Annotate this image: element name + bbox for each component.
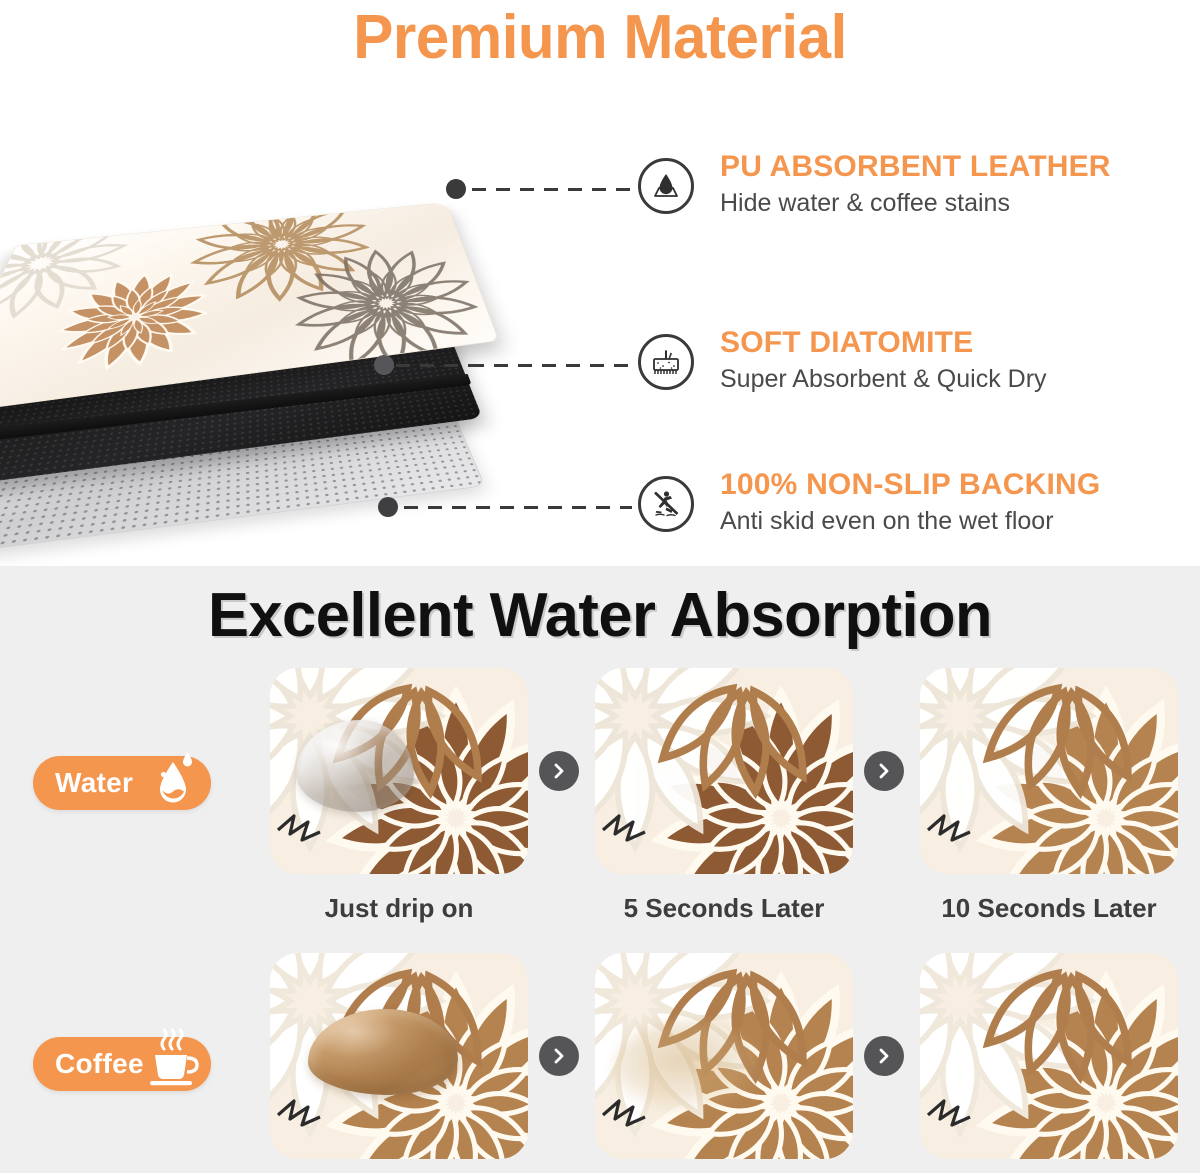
no-slipping-person-icon bbox=[638, 476, 694, 532]
tile-coffee-stage-3 bbox=[920, 953, 1178, 1159]
tile-pattern bbox=[920, 668, 1178, 874]
tile-coffee-stage-2 bbox=[595, 953, 853, 1159]
feature-callout-pu-leather: PU ABSORBENT LEATHER Hide water & coffee… bbox=[638, 150, 1198, 242]
tile-water-stage-1 bbox=[270, 668, 528, 874]
callout-title: SOFT DIATOMITE bbox=[720, 326, 1198, 360]
premium-material-section: Premium Material bbox=[0, 0, 1200, 566]
stage-arrow-water-2[interactable] bbox=[864, 751, 904, 791]
leader-dot-diatomite-layer bbox=[374, 355, 394, 375]
leader-line-diatomite-layer bbox=[470, 364, 630, 367]
tile-pattern bbox=[595, 668, 853, 874]
tile-water-stage-2 bbox=[595, 668, 853, 874]
tile-pattern bbox=[920, 953, 1178, 1159]
water-drop-on-mat-icon bbox=[638, 158, 694, 214]
leader-line-pu-layer bbox=[472, 188, 632, 191]
callout-text-group: SOFT DIATOMITE Super Absorbent & Quick D… bbox=[720, 326, 1198, 396]
section-title-water-absorption: Excellent Water Absorption bbox=[6, 580, 1194, 651]
badge-coffee: Coffee bbox=[33, 1037, 211, 1091]
tile-water-stage-3 bbox=[920, 668, 1178, 874]
badge-label: Water bbox=[55, 767, 133, 799]
badge-label: Coffee bbox=[55, 1048, 144, 1080]
leader-dot-backing-layer bbox=[378, 497, 398, 517]
callout-subtitle: Hide water & coffee stains bbox=[720, 186, 1198, 220]
chevron-right-icon bbox=[550, 1047, 568, 1065]
tile-coffee-stage-1 bbox=[270, 953, 528, 1159]
stage-arrow-water-1[interactable] bbox=[539, 751, 579, 791]
feature-callout-soft-diatomite: SOFT DIATOMITE Super Absorbent & Quick D… bbox=[638, 326, 1198, 418]
feature-callout-non-slip-backing: 100% NON-SLIP BACKING Anti skid even on … bbox=[638, 468, 1198, 560]
water-absorption-section: Excellent Water Absorption Water Coffee bbox=[0, 566, 1200, 1173]
water-droplet-icon bbox=[143, 746, 203, 812]
chevron-right-icon bbox=[550, 762, 568, 780]
callout-title: PU ABSORBENT LEATHER bbox=[720, 150, 1198, 184]
stage-arrow-coffee-2[interactable] bbox=[864, 1036, 904, 1076]
leader-dot-pu-layer bbox=[446, 179, 466, 199]
caption-stage-1: Just drip on bbox=[249, 893, 549, 924]
chevron-right-icon bbox=[875, 1047, 893, 1065]
caption-stage-3: 10 Seconds Later bbox=[899, 893, 1199, 924]
caption-stage-2: 5 Seconds Later bbox=[574, 893, 874, 924]
diatomite-block-icon bbox=[638, 334, 694, 390]
coffee-cup-icon bbox=[143, 1027, 203, 1093]
callout-subtitle: Anti skid even on the wet floor bbox=[720, 504, 1198, 538]
page-title-premium-material: Premium Material bbox=[18, 2, 1182, 73]
chevron-right-icon bbox=[875, 762, 893, 780]
leader-line-backing-layer bbox=[404, 506, 632, 509]
callout-subtitle: Super Absorbent & Quick Dry bbox=[720, 362, 1198, 396]
layered-mat-photo bbox=[0, 78, 560, 558]
stage-arrow-coffee-1[interactable] bbox=[539, 1036, 579, 1076]
callout-text-group: 100% NON-SLIP BACKING Anti skid even on … bbox=[720, 468, 1198, 538]
badge-water: Water bbox=[33, 756, 211, 810]
callout-title: 100% NON-SLIP BACKING bbox=[720, 468, 1198, 502]
callout-text-group: PU ABSORBENT LEATHER Hide water & coffee… bbox=[720, 150, 1198, 220]
leader-line-diatomite-layer-a bbox=[396, 364, 474, 367]
